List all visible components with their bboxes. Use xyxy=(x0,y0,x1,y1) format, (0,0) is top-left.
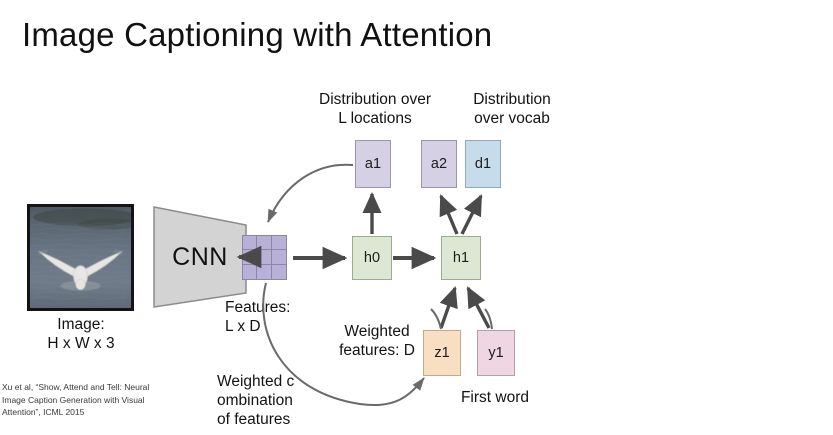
arrow-z1-to-h1 xyxy=(441,288,455,328)
stub-y1-top xyxy=(485,309,492,329)
node-label: z1 xyxy=(434,345,449,361)
cnn-label: CNN xyxy=(150,203,250,311)
curve-a1-to-features xyxy=(268,165,353,222)
node-a2: a2 xyxy=(421,140,457,188)
node-label: y1 xyxy=(488,345,503,361)
node-a1: a1 xyxy=(355,140,391,188)
feature-cell xyxy=(243,250,257,264)
node-label: d1 xyxy=(475,156,491,172)
distribution-locations-label: Distribution over L locations xyxy=(305,90,445,128)
feature-cell xyxy=(257,250,271,264)
image-caption-label: Image: H x W x 3 xyxy=(20,315,142,353)
arrow-y1-to-h1 xyxy=(468,288,489,328)
feature-cell xyxy=(272,236,286,250)
input-image-thumbnail xyxy=(27,204,134,311)
node-h0: h0 xyxy=(352,236,392,280)
slide-canvas: Image Captioning with Attention Image: H… xyxy=(0,0,833,435)
feature-cell xyxy=(257,236,271,250)
feature-cell xyxy=(272,265,286,279)
distribution-vocab-label: Distribution over vocab xyxy=(457,90,567,128)
seagull-photo xyxy=(30,207,131,308)
node-d1: d1 xyxy=(465,140,501,188)
node-label: a2 xyxy=(431,156,447,172)
arrow-h1-to-a2 xyxy=(441,196,457,234)
page-title: Image Captioning with Attention xyxy=(22,16,492,54)
node-label: a1 xyxy=(365,156,381,172)
citation-text: Xu et al, “Show, Attend and Tell: Neural… xyxy=(2,381,167,419)
cnn-block: CNN xyxy=(150,203,250,311)
feature-cell xyxy=(243,265,257,279)
arrow-h1-to-d1 xyxy=(462,196,481,234)
feature-grid xyxy=(242,235,287,280)
feature-cell xyxy=(243,236,257,250)
node-h1: h1 xyxy=(441,236,481,280)
node-label: h1 xyxy=(453,250,469,266)
first-word-label: First word xyxy=(440,388,550,407)
weighted-features-label: Weighted features: D xyxy=(322,322,432,360)
node-z1: z1 xyxy=(423,330,461,376)
feature-cell xyxy=(257,265,271,279)
stub-z1-top xyxy=(431,309,441,329)
weighted-combination-label: Weighted c ombination of features xyxy=(217,372,342,429)
node-y1: y1 xyxy=(477,330,515,376)
feature-cell xyxy=(272,250,286,264)
node-label: h0 xyxy=(364,250,380,266)
